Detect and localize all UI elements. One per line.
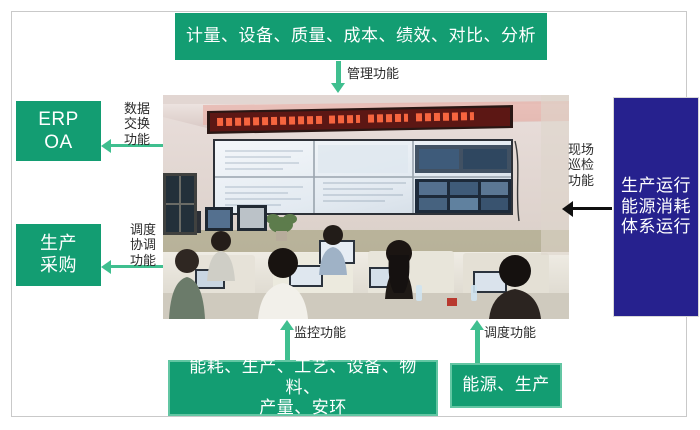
window: [163, 173, 197, 235]
box-purchase-line2: 采购: [40, 255, 77, 277]
arrow-left-onsite-inspection: [572, 207, 612, 210]
label-dispatch-function: 调度功能: [484, 325, 536, 340]
box-blue-line2: 能源消耗: [621, 197, 691, 218]
box-production-procurement: 生产 采购: [16, 224, 101, 286]
arrow-up-dispatch: [475, 330, 480, 363]
box-blue-line1: 生产运行: [621, 176, 691, 197]
box-erp-line2: OA: [38, 131, 79, 154]
box-production-energy-system: 生产运行 能源消耗 体系运行: [613, 97, 699, 317]
box-bottom-left-line1: 能耗、生产、工艺、设备、物料、: [176, 357, 430, 398]
video-wall: [213, 139, 513, 215]
box-bottom-right-label: 能源、生产: [462, 375, 550, 396]
box-bottom-monitoring-items: 能耗、生产、工艺、设备、物料、 产量、安环: [168, 360, 438, 416]
label-data-exchange-function: 数据 交换 功能: [114, 101, 160, 147]
label-onsite-inspection-function: 现场 巡检 功能: [560, 142, 602, 188]
diagram-canvas: 计量、设备、质量、成本、绩效、对比、分析 管理功能 ERP OA 数据 交换 功…: [0, 0, 700, 430]
arrow-down-management: [336, 61, 341, 83]
box-blue-line3: 体系运行: [621, 217, 691, 238]
label-scheduling-coordination-function: 调度 协调 功能: [120, 222, 166, 268]
box-erp-oa: ERP OA: [16, 101, 101, 161]
box-bottom-left-line2: 产量、安环: [176, 398, 430, 419]
arrow-up-monitoring: [285, 330, 290, 360]
label-management-function: 管理功能: [347, 66, 399, 81]
box-bottom-dispatch-items: 能源、生产: [450, 363, 562, 408]
label-monitoring-function: 监控功能: [294, 325, 346, 340]
control-room-photo-illustration: [163, 95, 569, 319]
box-top-label: 计量、设备、质量、成本、绩效、对比、分析: [186, 26, 536, 47]
box-purchase-line1: 生产: [40, 233, 77, 255]
control-room-photo: [163, 95, 569, 319]
box-top-management-items: 计量、设备、质量、成本、绩效、对比、分析: [175, 13, 547, 60]
box-erp-line1: ERP: [38, 108, 79, 131]
